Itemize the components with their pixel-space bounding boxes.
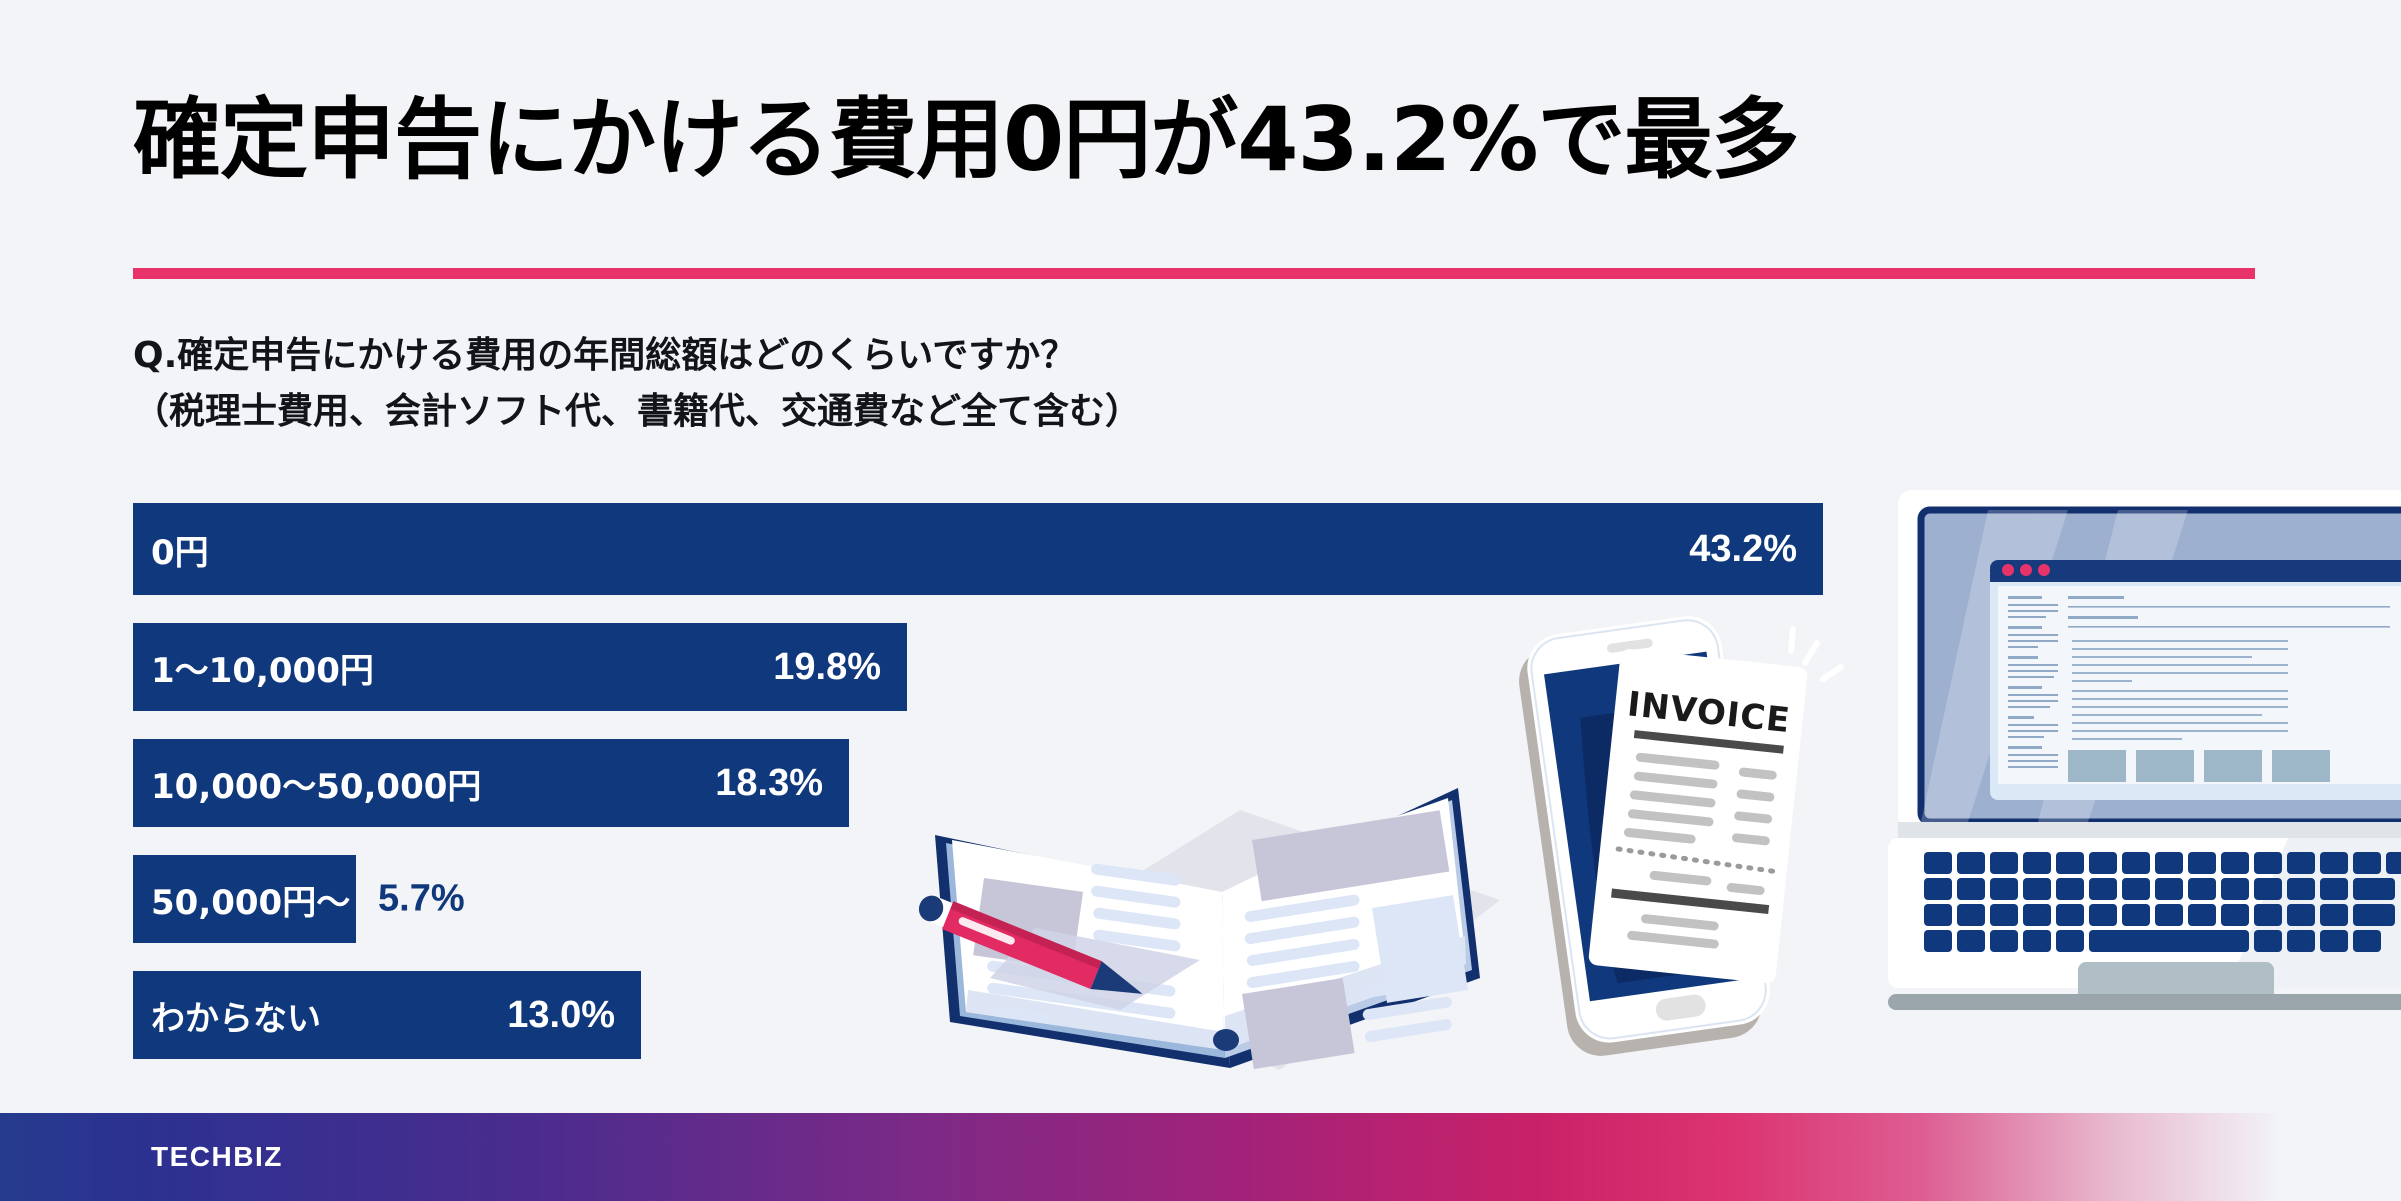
bar-2: 1〜10,000円19.8% (133, 623, 907, 711)
page-title: 確定申告にかける費用0円が43.2%で最多 (133, 96, 2293, 184)
bar-value-label: 43.2% (1689, 528, 1797, 571)
bar-value-label: 13.0% (507, 994, 615, 1037)
bar-category-label: 1〜10,000円 (151, 643, 374, 692)
infographic-canvas: 確定申告にかける費用0円が43.2%で最多 Q.確定申告にかける費用の年間総額は… (0, 0, 2401, 1201)
smartphone-invoice-illustration: INVOICE (1505, 595, 1855, 1065)
footer-bar: TECHBIZ (0, 1113, 2401, 1201)
bar-4: 50,000円〜 (133, 855, 356, 943)
brand-logo[interactable]: TECHBIZ (151, 1141, 283, 1173)
bar-category-label: わからない (151, 991, 321, 1040)
bar-value-label: 19.8% (773, 646, 881, 689)
open-book-with-pencil-illustration (880, 660, 1520, 1080)
bar-3: 10,000〜50,000円18.3% (133, 739, 849, 827)
bar-value-label: 5.7% (378, 878, 465, 921)
bar-5: わからない13.0% (133, 971, 641, 1059)
question-line-2: （税理士費用、会計ソフト代、書籍代、交通費など全て含む） (133, 384, 1833, 440)
survey-question: Q.確定申告にかける費用の年間総額はどのくらいですか？ （税理士費用、会計ソフト… (133, 328, 1833, 440)
bar-category-label: 50,000円〜 (151, 875, 350, 924)
bar-value-label: 18.3% (715, 762, 823, 805)
bar-category-label: 10,000〜50,000円 (151, 759, 481, 808)
bar-1: 0円43.2% (133, 503, 1823, 595)
question-line-1: Q.確定申告にかける費用の年間総額はどのくらいですか？ (133, 328, 1833, 384)
bar-category-label: 0円 (151, 525, 209, 574)
bar-row: 0円43.2% (133, 503, 1893, 595)
title-divider (133, 268, 2255, 279)
laptop-browser-illustration (1868, 478, 2401, 1033)
